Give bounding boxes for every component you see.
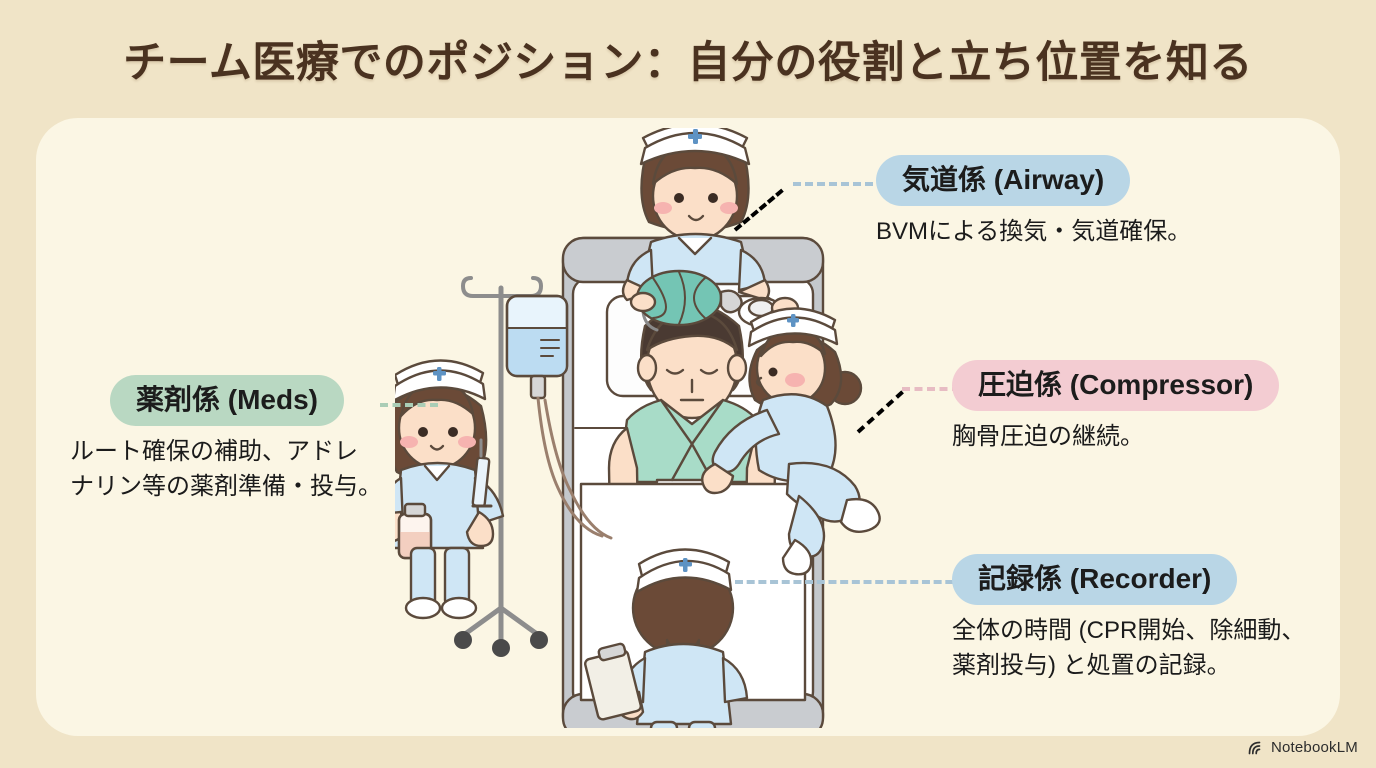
callout-recorder-description: 全体の時間 (CPR開始、除細動、 薬剤投与) と処置の記録。 <box>952 614 1305 684</box>
callout-recorder-label[interactable]: 記録係 (Recorder) <box>952 554 1237 605</box>
connector-airway <box>793 182 885 186</box>
callout-recorder-desc-line-1: 全体の時間 (CPR開始、除細動、 <box>952 614 1305 649</box>
callout-airway[interactable]: 気道係 (Airway) BVMによる換気・気道確保。 <box>876 155 1191 250</box>
callout-recorder-desc-line-2: 薬剤投与) と処置の記録。 <box>952 649 1305 684</box>
callout-meds-description: ルート確保の補助、アドレ ナリン等の薬剤準備・投与。 <box>70 435 382 505</box>
callout-compressor-description: 胸骨圧迫の継続。 <box>952 420 1279 455</box>
notebooklm-watermark-label: NotebookLM <box>1271 739 1358 756</box>
callout-meds-desc-line-2: ナリン等の薬剤準備・投与。 <box>70 470 382 505</box>
callout-airway-label[interactable]: 気道係 (Airway) <box>876 155 1130 206</box>
callout-recorder[interactable]: 記録係 (Recorder) 全体の時間 (CPR開始、除細動、 薬剤投与) と… <box>952 554 1305 684</box>
callout-meds[interactable]: 薬剤係 (Meds) ルート確保の補助、アドレ ナリン等の薬剤準備・投与。 <box>70 375 382 505</box>
page-title: チーム医療でのポジション：自分の役割と立ち位置を知る <box>0 28 1376 90</box>
connector-meds <box>380 403 438 407</box>
callout-airway-desc-line-1: BVMによる換気・気道確保。 <box>876 215 1191 250</box>
callout-airway-description: BVMによる換気・気道確保。 <box>876 215 1191 250</box>
callout-compressor[interactable]: 圧迫係 (Compressor) 胸骨圧迫の継続。 <box>952 360 1279 455</box>
meds-nurse <box>395 360 503 618</box>
callout-meds-label[interactable]: 薬剤係 (Meds) <box>110 375 344 426</box>
connector-recorder <box>735 580 965 584</box>
callout-compressor-desc-line-1: 胸骨圧迫の継続。 <box>952 420 1279 455</box>
callout-meds-desc-line-1: ルート確保の補助、アドレ <box>70 435 382 470</box>
cpr-team-illustration: .ol { stroke:#5b4a3c; stroke-width:2.4; … <box>395 128 915 728</box>
notebooklm-logo-icon <box>1248 740 1265 756</box>
callout-compressor-label[interactable]: 圧迫係 (Compressor) <box>952 360 1279 411</box>
slide-canvas: チーム医療でのポジション：自分の役割と立ち位置を知る .ol { stroke:… <box>0 0 1376 768</box>
notebooklm-watermark: NotebookLM <box>1248 739 1358 756</box>
